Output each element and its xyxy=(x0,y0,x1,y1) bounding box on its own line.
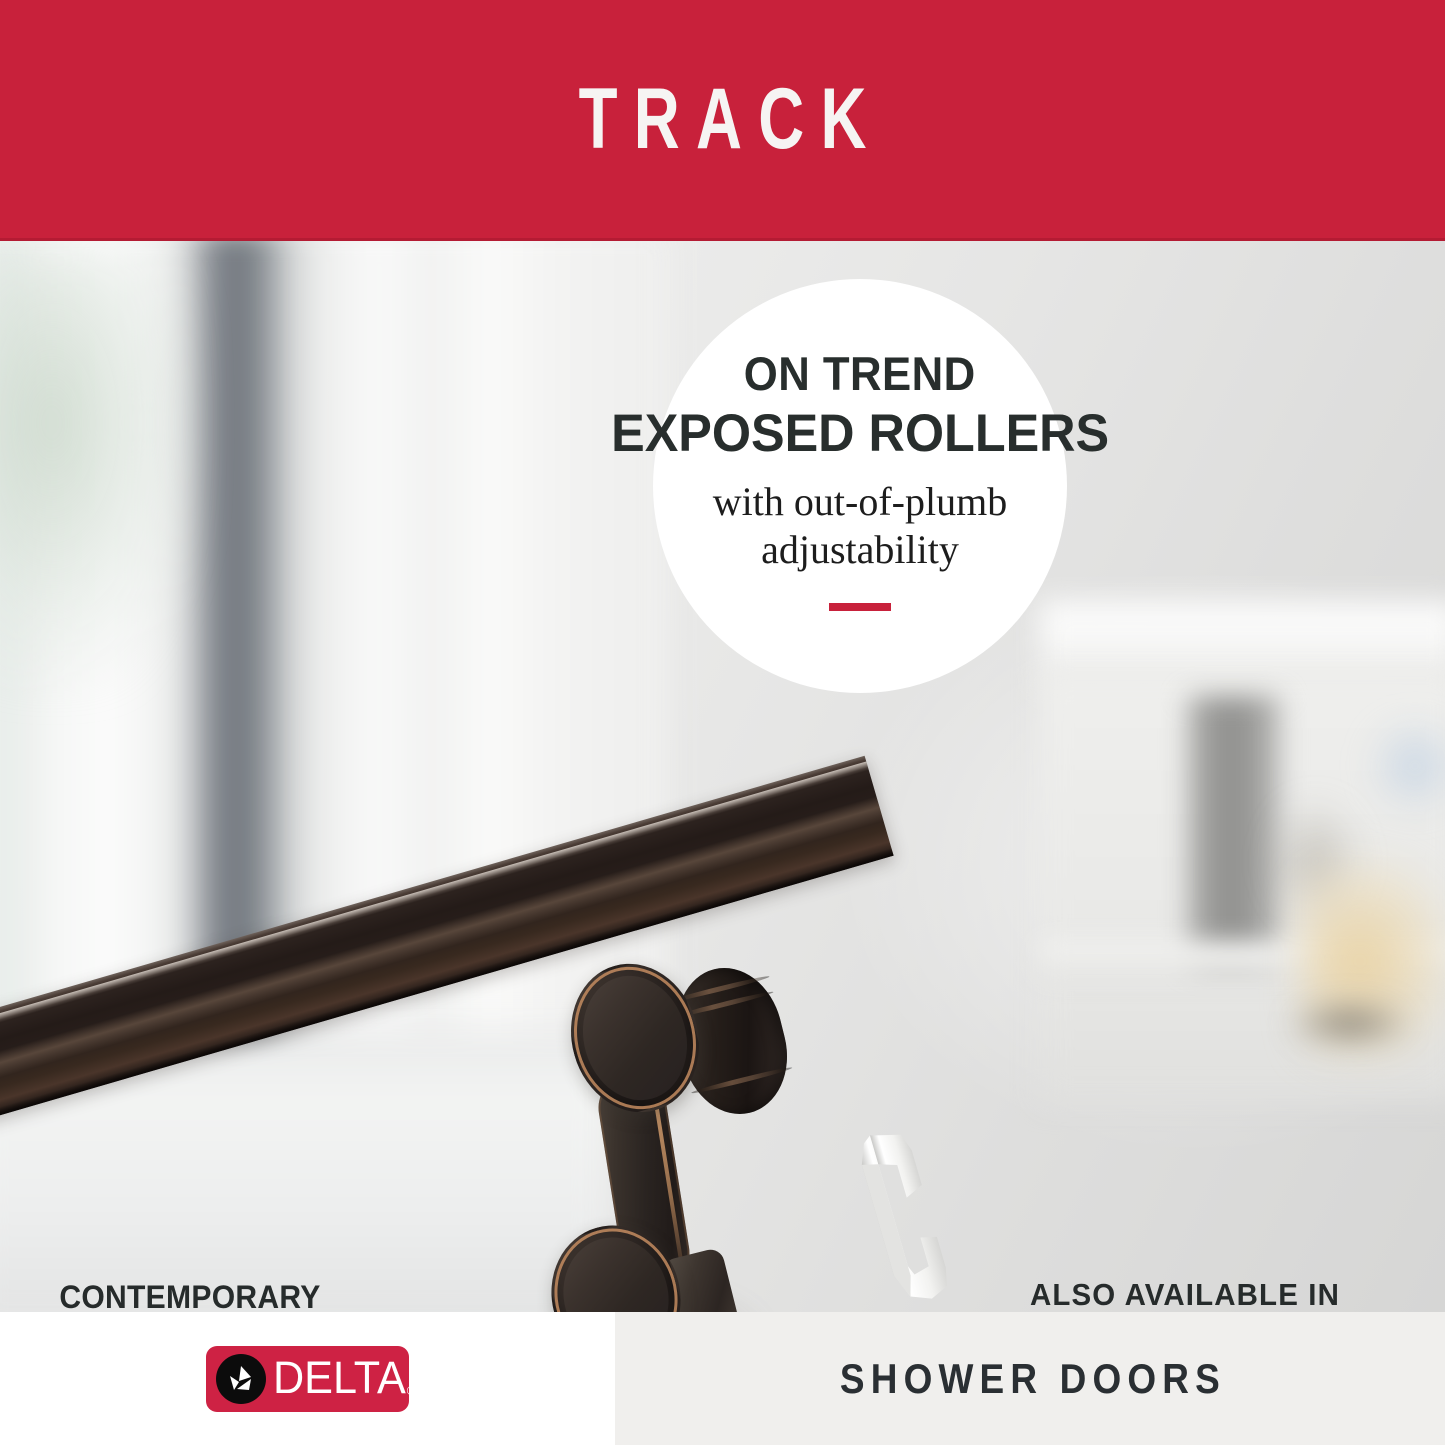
callout-red-rule xyxy=(829,603,891,611)
footer-category-panel: SHOWER DOORS xyxy=(615,1312,1445,1445)
delta-wordmark: DELTA® xyxy=(273,1355,415,1400)
footer-category-label: SHOWER DOORS xyxy=(834,1355,1226,1403)
roller-hub-ring-3 xyxy=(691,1065,793,1095)
page-title: TRACK xyxy=(188,0,1257,238)
header-banner: TRACK xyxy=(0,0,1445,241)
track-c-channel-profile xyxy=(840,1119,962,1312)
shower-door-track xyxy=(0,851,970,1312)
product-photo: ON TREND EXPOSED ROLLERS with out-of-plu… xyxy=(0,241,1445,1312)
roller-disc-upper-face xyxy=(569,963,702,1112)
callout-heading-line2: EXPOSED ROLLERS xyxy=(611,405,1109,463)
finishes-heading: ALSO AVAILABLE IN xyxy=(971,1277,1399,1312)
background-object-dark xyxy=(1290,1001,1410,1046)
footer-bar: DELTA® SHOWER DOORS xyxy=(0,1312,1445,1445)
background-blue-accent xyxy=(1370,721,1445,811)
callout-subtext-line2: adjustability xyxy=(761,526,959,575)
exposed-roller-assembly xyxy=(552,953,812,1312)
feature-callout-circle: ON TREND EXPOSED ROLLERS with out-of-plu… xyxy=(653,279,1067,693)
product-marketing-image: TRACK xyxy=(0,0,1445,1445)
available-finishes: ALSO AVAILABLE IN CHROME BRUSHED NICKEL … xyxy=(960,1277,1410,1312)
product-caption: CONTEMPORARY TRACK IN BRONZE xyxy=(54,1277,327,1312)
roller-disc-upper xyxy=(554,949,716,1128)
footer-brand-panel: DELTA® xyxy=(0,1312,615,1445)
background-foliage-glow xyxy=(0,251,190,681)
product-caption-line1: CONTEMPORARY xyxy=(54,1277,327,1312)
callout-heading-line1: ON TREND xyxy=(744,349,976,398)
delta-registered-mark: ® xyxy=(407,1383,416,1398)
background-canister xyxy=(1188,696,1280,966)
delta-logo[interactable]: DELTA® xyxy=(206,1346,409,1412)
delta-brand-text: DELTA xyxy=(273,1352,406,1403)
delta-triangle-icon xyxy=(216,1354,266,1404)
callout-subtext-line1: with out-of-plumb xyxy=(713,478,1007,527)
